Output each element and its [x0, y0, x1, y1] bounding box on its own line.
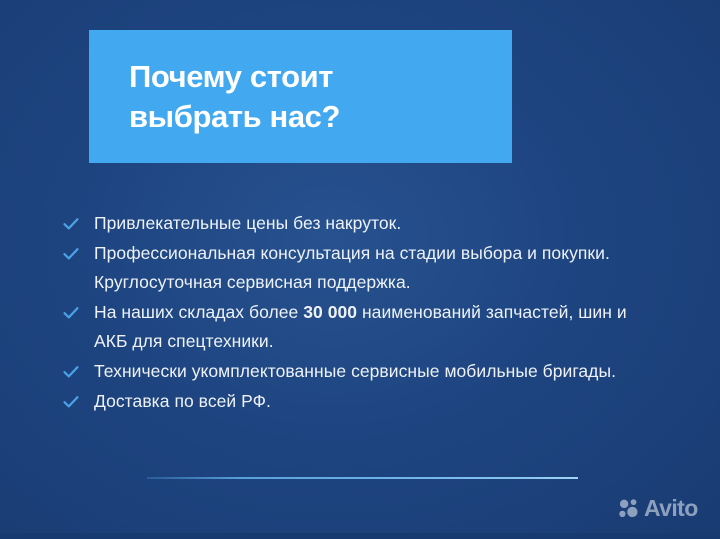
avito-logo-icon [618, 497, 641, 520]
list-item: Доставка по всей РФ. [62, 387, 662, 416]
list-item-text: Профессиональная консультация на стадии … [94, 243, 610, 292]
page-title: Почему стоит выбрать нас? [129, 57, 340, 136]
list-item: На наших складах более 30 000 наименован… [62, 298, 662, 357]
inventory-count: 30 000 [303, 302, 357, 322]
list-item: Профессиональная консультация на стадии … [62, 239, 662, 298]
advantages-list: Привлекательные цены без накруток. Профе… [62, 209, 662, 417]
list-item-text: Привлекательные цены без накруток. [94, 213, 401, 233]
list-item: Привлекательные цены без накруток. [62, 209, 662, 238]
check-icon [62, 363, 80, 381]
avito-watermark: Avito [618, 497, 698, 520]
list-item-text: Доставка по всей РФ. [94, 391, 271, 411]
check-icon [62, 393, 80, 411]
check-icon [62, 215, 80, 233]
list-item: Технически укомплектованные сервисные мо… [62, 357, 662, 386]
title-box: Почему стоит выбрать нас? [89, 30, 512, 163]
divider [147, 477, 578, 479]
bottom-band [0, 533, 720, 539]
list-item-text: Технически укомплектованные сервисные мо… [94, 361, 616, 381]
check-icon [62, 304, 80, 322]
check-icon [62, 245, 80, 263]
avito-wordmark: Avito [644, 497, 698, 520]
slide-canvas: Почему стоит выбрать нас? Привлекательны… [0, 0, 720, 539]
list-item-text-before: На наших складах более [94, 302, 303, 322]
